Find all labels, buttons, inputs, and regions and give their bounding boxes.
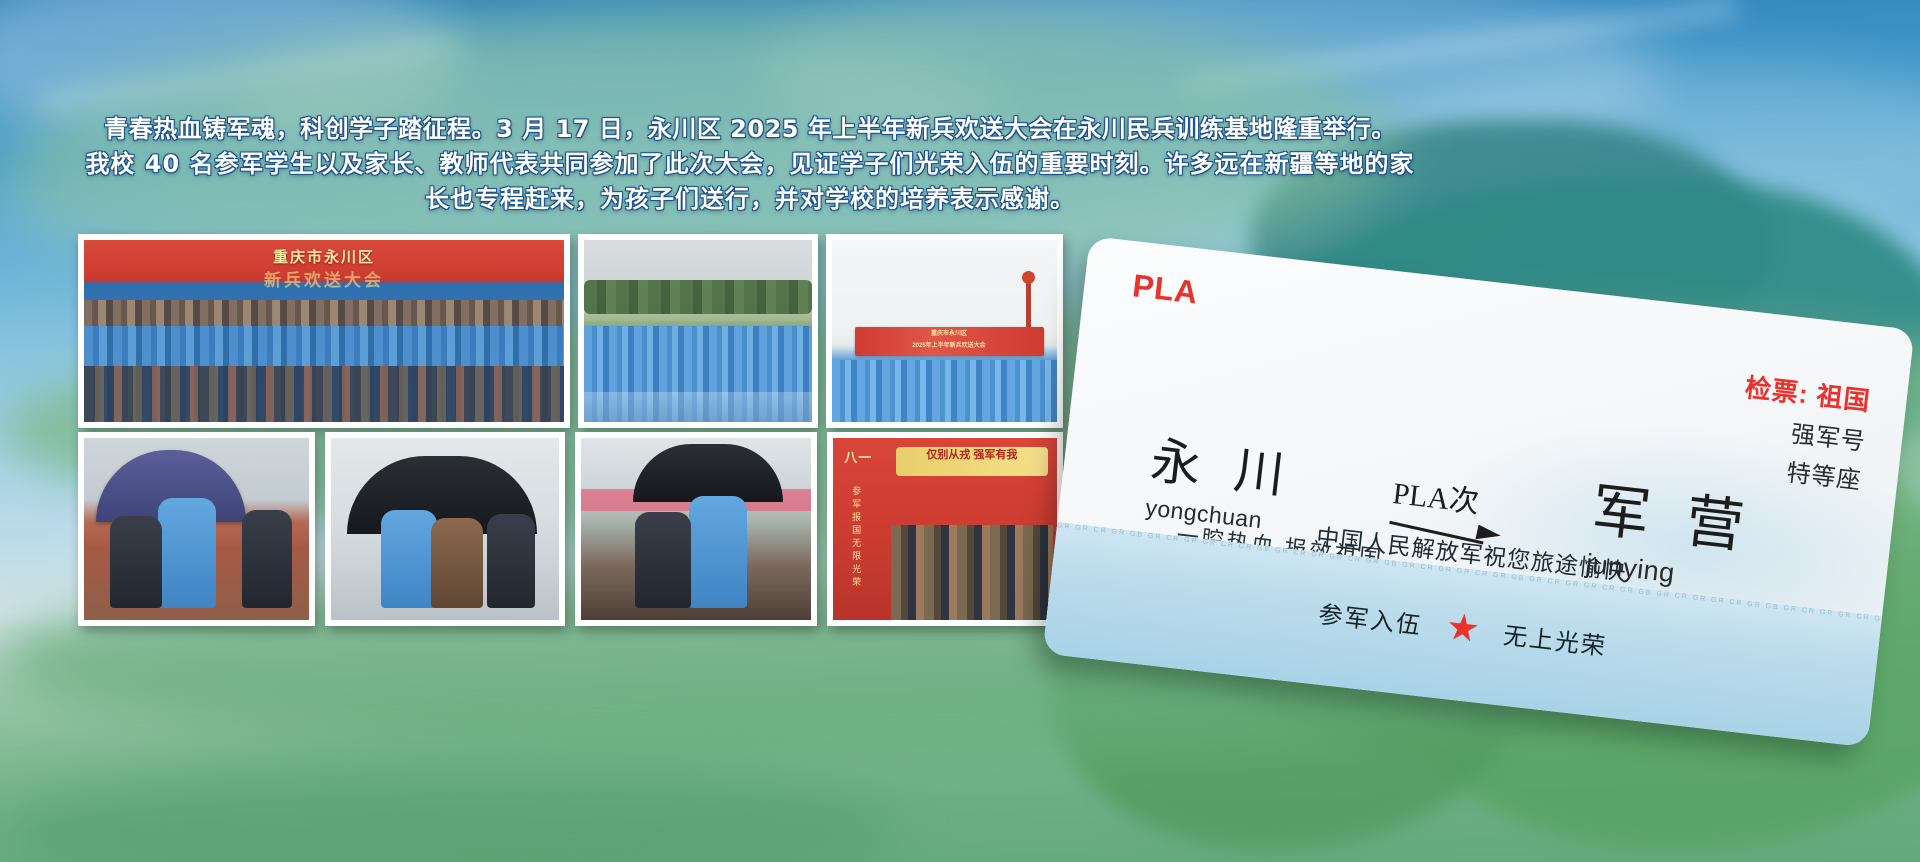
- photo-image: 重庆市永川区 新兵欢送大会: [84, 240, 564, 422]
- photo-image: [331, 438, 559, 620]
- photo-slogan-text: 仅别从戎 强军有我: [896, 447, 1048, 464]
- photo-black-umbrella-farewell[interactable]: [325, 432, 565, 626]
- photo-banner-title: 重庆市永川区: [84, 246, 564, 267]
- tree-line: [584, 280, 812, 314]
- headline-line-3: 长也专程赶来，为孩子们送行，并对学校的培养表示感谢。: [0, 182, 1500, 217]
- photo-image: 八一 仅别从戎 强军有我 参军报国 无限光荣: [833, 438, 1057, 620]
- photo-image: [84, 438, 309, 620]
- person-silhouette: [242, 510, 292, 608]
- headline-line-1: 青春热血铸军魂，科创学子踏征程。3 月 17 日，永川区 2025 年上半年新兵…: [0, 112, 1500, 147]
- photo-red-backdrop-group[interactable]: 八一 仅别从戎 强军有我 参军报国 无限光荣: [827, 432, 1063, 626]
- destination-station-cn: 军 营: [1588, 463, 1759, 565]
- umbrella-shape: [633, 444, 783, 502]
- red-star-icon: [1446, 612, 1479, 645]
- ticket-footer-left: 参军入伍: [1317, 594, 1424, 641]
- person-silhouette: [110, 516, 162, 608]
- photo-corner-label: 八一: [844, 447, 872, 466]
- poster-canvas: 青春热血铸军魂，科创学子踏征程。3 月 17 日，永川区 2025 年上半年新兵…: [0, 0, 1920, 862]
- ticket-check-block: 检票: 祖国 强军号 特等座: [1734, 367, 1872, 496]
- photo-image: [581, 438, 811, 620]
- photo-banner-subtitle: 新兵欢送大会: [84, 266, 564, 291]
- photo-blue-umbrella-farewell[interactable]: [78, 432, 315, 626]
- photo-group-ceremony[interactable]: 重庆市永川区 新兵欢送大会: [78, 234, 570, 428]
- photo-vertical-text: 参军报国 无限光荣: [849, 485, 865, 589]
- stage-banner-subtitle: 2025年上半年新兵欢送大会: [855, 339, 1044, 351]
- photo-couple-umbrella[interactable]: [575, 432, 817, 626]
- crowd-row: [891, 525, 1052, 620]
- person-silhouette: [431, 518, 483, 608]
- stage-banner: 重庆市永川区 2025年上半年新兵欢送大会: [855, 327, 1044, 356]
- crowd-row: [84, 366, 564, 422]
- person-silhouette: [381, 510, 437, 608]
- person-silhouette: [158, 498, 216, 608]
- photo-slogan-banner: 仅别从戎 强军有我: [896, 447, 1048, 476]
- person-silhouette: [635, 512, 691, 608]
- photo-image: [584, 240, 812, 422]
- crowd-row: [832, 360, 1057, 422]
- photo-stage-ceremony[interactable]: 重庆市永川区 2025年上半年新兵欢送大会: [826, 234, 1063, 428]
- ticket-brand-label: PLA: [1131, 267, 1200, 311]
- stage-banner-title: 重庆市永川区: [855, 327, 1044, 339]
- ticket-footer-right: 无上光荣: [1502, 615, 1609, 662]
- formation-rows: [584, 326, 812, 422]
- person-silhouette: [689, 496, 747, 608]
- headline-line-2: 我校 40 名参军学生以及家长、教师代表共同参加了此次大会，见证学子们光荣入伍的…: [0, 147, 1500, 182]
- person-silhouette: [487, 514, 535, 608]
- photo-image: 重庆市永川区 2025年上半年新兵欢送大会: [832, 240, 1057, 422]
- headline-paragraph: 青春热血铸军魂，科创学子踏征程。3 月 17 日，永川区 2025 年上半年新兵…: [0, 112, 1500, 217]
- origin-station-cn: 永 川: [1147, 421, 1298, 509]
- photo-formation-rain[interactable]: [578, 234, 818, 428]
